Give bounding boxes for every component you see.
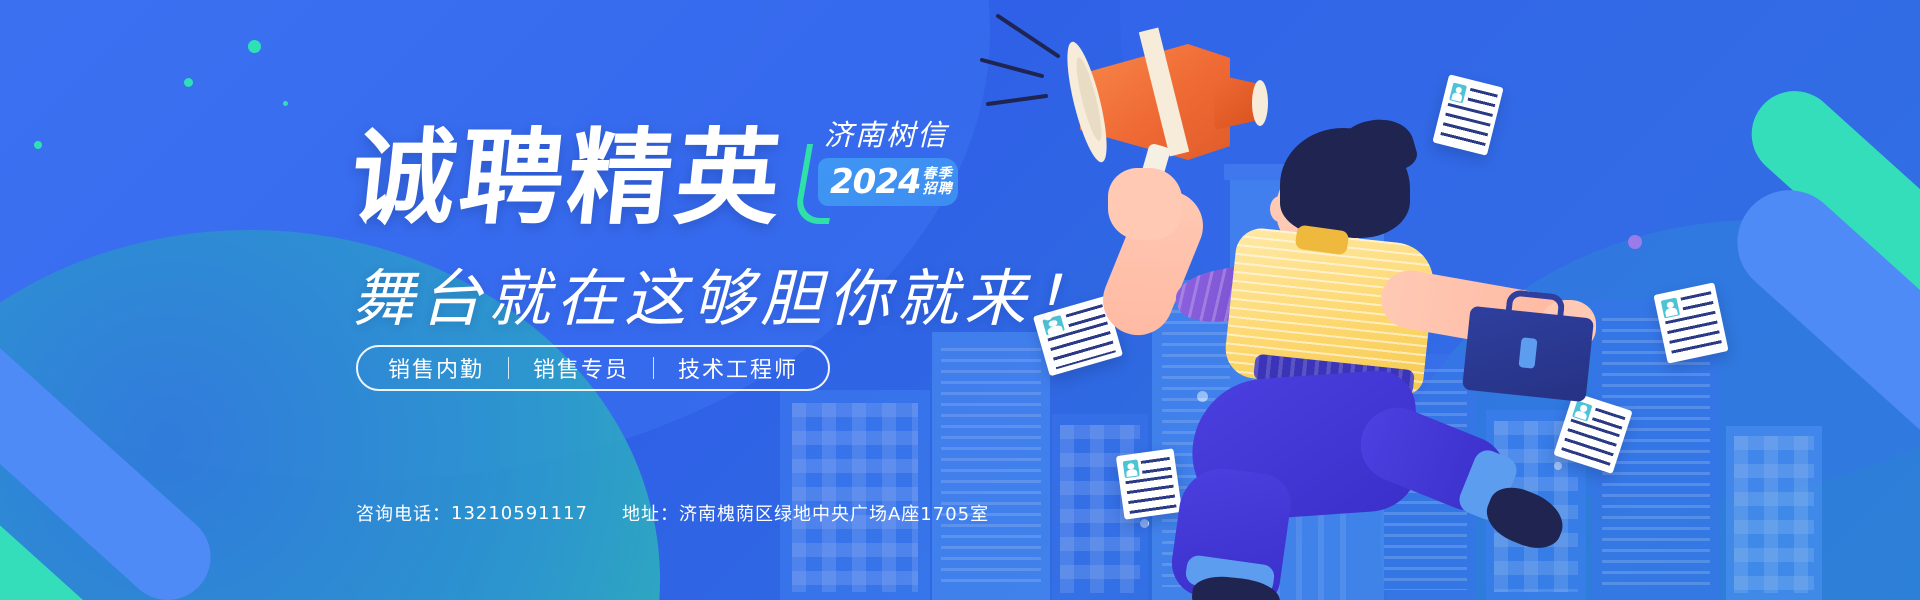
- phone-label: 咨询电话：: [356, 500, 451, 526]
- company-name: 济南树信: [824, 112, 948, 154]
- recruitment-badge: 济南树信 2024 春季 招聘: [806, 118, 966, 222]
- job-position-2: 销售专员: [533, 352, 629, 384]
- job-positions-pill: 销售内勤 销售专员 技术工程师: [356, 345, 830, 391]
- banner-subtitle: 舞台就在这够胆你就来！: [352, 248, 1100, 338]
- building-9: [1726, 426, 1822, 600]
- briefcase-clasp: [1518, 337, 1537, 369]
- address-value: 济南槐荫区绿地中央广场A座1705室: [679, 500, 989, 526]
- address-label: 地址：: [622, 500, 679, 526]
- headline-row: 诚聘精英 济南树信 2024 春季 招聘: [352, 118, 966, 230]
- character-fist: [1108, 168, 1182, 240]
- phone-number: 13210591117: [451, 503, 588, 524]
- job-position-3: 技术工程师: [678, 352, 798, 384]
- job-separator-2: [653, 357, 654, 379]
- banner-text-content: 诚聘精英 济南树信 2024 春季 招聘 舞台就在这够胆你就来！ 销售内勤 销售…: [0, 0, 1000, 600]
- badge-season: 春季 招聘: [923, 167, 953, 196]
- megaphone-icon: [1080, 22, 1290, 192]
- recruitment-banner: 诚聘精英 济南树信 2024 春季 招聘 舞台就在这够胆你就来！ 销售内勤 销售…: [0, 0, 1920, 600]
- job-separator-1: [508, 357, 509, 379]
- badge-season-line1: 春季: [923, 167, 953, 182]
- badge-season-line2: 招聘: [923, 182, 953, 197]
- contact-info: 咨询电话： 13210591117 地址： 济南槐荫区绿地中央广场A座1705室: [356, 500, 989, 526]
- badge-year: 2024: [830, 165, 921, 199]
- job-position-1: 销售内勤: [388, 352, 484, 384]
- page-title: 诚聘精英: [347, 126, 790, 230]
- year-season-badge: 2024 春季 招聘: [818, 158, 958, 206]
